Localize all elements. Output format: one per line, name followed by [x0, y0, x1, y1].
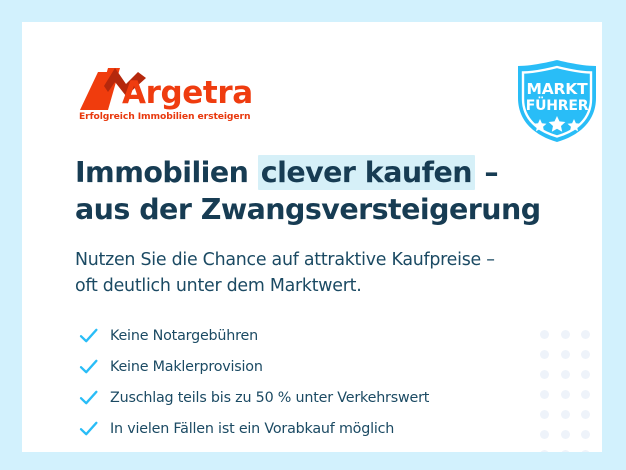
- dot: [540, 410, 549, 419]
- dot: [581, 390, 590, 399]
- list-item-label: In vielen Fällen ist ein Vorabkauf mögli…: [110, 421, 394, 437]
- page-title: Immobilien clever kaufen – aus der Zwang…: [75, 155, 575, 229]
- headline-part-before: Immobilien: [75, 156, 258, 189]
- dot: [581, 350, 590, 359]
- headline-highlight: clever kaufen: [258, 155, 475, 190]
- dot: [602, 390, 603, 399]
- dot: [540, 350, 549, 359]
- dot: [540, 330, 549, 339]
- dot: [602, 450, 603, 452]
- dot: [561, 370, 570, 379]
- list-item-label: Zuschlag teils bis zu 50 % unter Verkehr…: [110, 390, 429, 406]
- argetra-logo[interactable]: Argetra Erfolgreich Immobilien ersteiger…: [78, 66, 268, 128]
- dot: [602, 350, 603, 359]
- promo-card: Argetra Erfolgreich Immobilien ersteiger…: [22, 22, 602, 452]
- headline-line-2: aus der Zwangsversteigerung: [75, 192, 575, 229]
- dot: [540, 370, 549, 379]
- list-item: Keine Maklerprovision: [78, 351, 538, 382]
- dot: [540, 430, 549, 439]
- dot: [602, 410, 603, 419]
- list-item: Keine Notargebühren: [78, 320, 538, 351]
- dot: [540, 390, 549, 399]
- subtitle-line-2: oft deutlich unter dem Marktwert.: [75, 273, 595, 299]
- check-icon: [78, 356, 99, 377]
- svg-text:MARKT: MARKT: [527, 80, 589, 98]
- list-item: Zuschlag teils bis zu 50 % unter Verkehr…: [78, 382, 538, 413]
- dot: [561, 410, 570, 419]
- check-icon: [78, 387, 99, 408]
- dot: [602, 330, 603, 339]
- list-item: In vielen Fällen ist ein Vorabkauf mögli…: [78, 413, 538, 444]
- dot: [581, 430, 590, 439]
- shield-badge-icon: MARKT FÜHRER: [510, 58, 602, 144]
- headline-line-1: Immobilien clever kaufen –: [75, 155, 575, 192]
- dot: [581, 370, 590, 379]
- dot: [581, 410, 590, 419]
- check-icon: [78, 325, 99, 346]
- list-item-label: Keine Maklerprovision: [110, 359, 263, 375]
- dot: [581, 330, 590, 339]
- dot: [581, 450, 590, 452]
- logo-wordmark: Argetra: [122, 78, 253, 109]
- dot: [602, 430, 603, 439]
- dot: [561, 450, 570, 452]
- promo-banner: Argetra Erfolgreich Immobilien ersteiger…: [0, 0, 626, 470]
- page-subtitle: Nutzen Sie die Chance auf attraktive Kau…: [75, 247, 595, 299]
- list-item-label: Keine Notargebühren: [110, 328, 258, 344]
- dot: [561, 430, 570, 439]
- svg-text:FÜHRER: FÜHRER: [526, 96, 589, 114]
- dot: [561, 330, 570, 339]
- headline-part-after: –: [475, 156, 498, 189]
- logo-tagline: Erfolgreich Immobilien ersteigern: [79, 111, 250, 122]
- subtitle-line-1: Nutzen Sie die Chance auf attraktive Kau…: [75, 247, 595, 273]
- dot: [602, 370, 603, 379]
- dot: [561, 390, 570, 399]
- dot: [540, 450, 549, 452]
- dot: [561, 350, 570, 359]
- benefit-list: Keine Notargebühren Keine Maklerprovisio…: [78, 320, 538, 444]
- market-leader-badge: MARKT FÜHRER: [510, 58, 602, 144]
- check-icon: [78, 418, 99, 439]
